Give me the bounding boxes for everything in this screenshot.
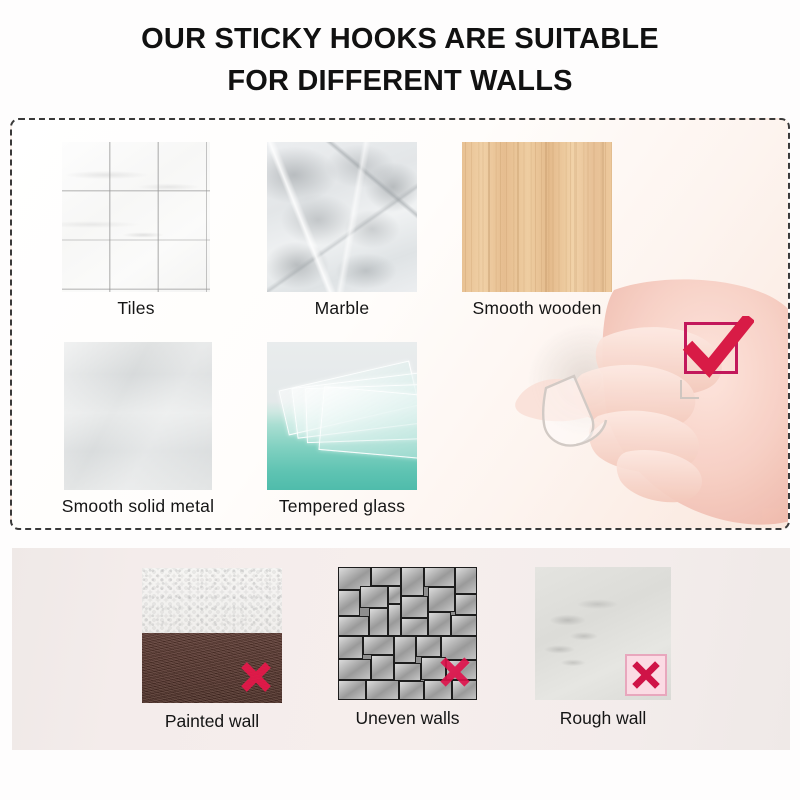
material-swatch-tiles: Tiles — [62, 142, 210, 292]
page-title: OUR STICKY HOOKS ARE SUITABLE FOR DIFFER… — [0, 18, 800, 102]
painted-wall-upper — [142, 568, 282, 633]
rough-wall-texture — [535, 567, 671, 700]
metal-texture — [64, 342, 212, 490]
material-swatch-tempered-glass: Tempered glass — [267, 342, 417, 490]
cross-icon — [435, 652, 475, 692]
glass-pane — [318, 386, 417, 460]
wood-texture — [462, 142, 612, 292]
infographic-canvas: OUR STICKY HOOKS ARE SUITABLE FOR DIFFER… — [0, 0, 800, 800]
tiles-texture — [62, 142, 210, 292]
unsuitable-materials-panel: Painted wall — [12, 548, 790, 750]
cross-icon-frame — [625, 654, 667, 696]
marble-texture — [267, 142, 417, 292]
suitable-materials-panel: Tiles Marble Smooth wooden Smooth solid … — [10, 118, 790, 530]
heading-line-1: OUR STICKY HOOKS ARE SUITABLE — [141, 23, 659, 55]
stone-wall-texture — [338, 567, 477, 700]
material-swatch-uneven-walls: Uneven walls — [338, 567, 477, 700]
material-label: Tempered glass — [227, 496, 457, 517]
material-swatch-marble: Marble — [267, 142, 417, 292]
check-glyph — [680, 316, 754, 386]
cross-icon — [627, 656, 665, 694]
painted-wall-texture — [142, 568, 282, 703]
material-swatch-painted-wall: Painted wall — [142, 568, 282, 703]
material-swatch-rough-wall: Rough wall — [535, 567, 671, 700]
material-label: Smooth wooden — [422, 298, 652, 319]
heading-line-2: FOR DIFFERENT WALLS — [0, 60, 800, 102]
material-swatch-smooth-solid-metal: Smooth solid metal — [64, 342, 212, 490]
cross-icon — [236, 657, 276, 697]
material-label: Smooth solid metal — [24, 496, 252, 517]
material-label: Tiles — [22, 298, 250, 319]
material-label: Rough wall — [485, 708, 721, 729]
material-swatch-smooth-wooden: Smooth wooden — [462, 142, 612, 292]
glass-texture — [267, 342, 417, 490]
check-icon — [680, 316, 754, 386]
